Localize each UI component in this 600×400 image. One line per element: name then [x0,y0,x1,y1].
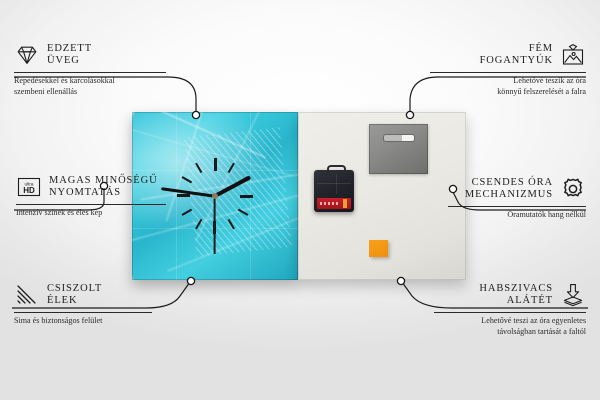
infographic-stage: EDZETT ÜVEG Repedésekkel és karcolásokka… [0,0,600,400]
feature-title-line1: CSENDES ÓRA [472,177,553,188]
feature-title-line1: HABSZIVACS [479,283,553,294]
feature-desc-line1: Óramutatók hang nélkül [507,210,586,219]
divider [16,204,166,205]
ultra-hd-badge-icon: ultra HD [16,174,42,200]
feature-tempered-glass[interactable]: EDZETT ÜVEG Repedésekkel és karcolásokka… [14,42,166,97]
badge-bottom-text: HD [23,186,35,195]
divider [448,206,586,207]
feature-desc-line1: Lehetővé teszik az óra [513,76,586,85]
feature-desc-line2: szembeni ellenállás [14,87,77,96]
clock-second-hand [214,196,216,254]
divider [434,312,586,313]
divider [430,72,586,73]
foam-pad [369,240,388,257]
polished-edge-icon [14,282,40,308]
feature-desc-line2: könnyű felszerelését a falra [497,87,586,96]
gear-icon [560,176,586,202]
metal-hanger-plate [369,124,428,174]
mechanism-handle [327,165,346,174]
foam-pad-icon [560,282,586,308]
picture-hanger-icon [560,42,586,68]
feature-title-line2: ÉLEK [47,295,77,306]
mechanism-seam [317,183,351,184]
feature-title-line1: EDZETT [47,43,92,54]
hanger-slot [383,134,415,142]
feature-metal-handles[interactable]: FÉM FOGANTYÚK Lehetővé teszik az óra kön… [430,42,586,97]
clock-center-cap [212,193,218,199]
clock-back-panel [298,112,466,280]
diamond-icon [14,42,40,68]
mechanism-seam [336,174,337,194]
battery-label [317,198,351,209]
feature-title-line1: MAGAS MINŐSÉGŰ [49,175,158,186]
feature-foam-pad[interactable]: HABSZIVACS ALÁTÉT Lehetővé teszi az óra … [434,282,586,337]
clock-mechanism [314,170,354,212]
feature-polished-edges[interactable]: CSISZOLT ÉLEK Sima és biztonságos felüle… [14,282,152,327]
divider [14,72,166,73]
divider [14,312,152,313]
feature-title-line1: FÉM [529,43,553,54]
feature-title-line2: ALÁTÉT [507,295,553,306]
product-image [132,112,466,280]
feature-desc-line1: Sima és biztonságos felület [14,316,102,325]
feature-title-line1: CSISZOLT [47,283,102,294]
feature-desc-line1: Lehetővé teszi az óra egyenletes [481,316,586,325]
feature-title-line2: NYOMTATÁS [49,187,121,198]
feature-hq-print[interactable]: ultra HD MAGAS MINŐSÉGŰ NYOMTATÁS Intenz… [16,174,166,219]
feature-desc-line2: távolságban tartását a faltól [497,327,586,336]
feature-desc-line1: Intenzív színek és éles kép [16,208,102,217]
feature-title-line2: MECHANIZMUS [465,189,553,200]
feature-desc-line1: Repedésekkel és karcolásokkal [14,76,115,85]
feature-quiet-mechanism[interactable]: CSENDES ÓRA MECHANIZMUS Óramutatók hang … [448,176,586,221]
feature-title-line2: ÜVEG [47,55,80,66]
feature-title-line2: FOGANTYÚK [480,55,553,66]
